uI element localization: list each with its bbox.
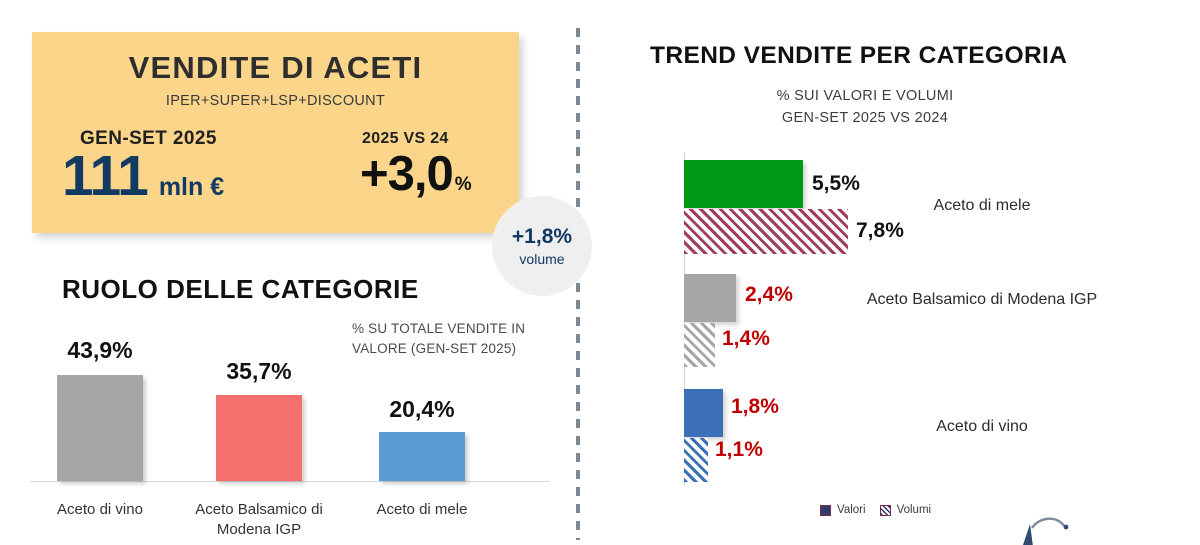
hbar-label-mele-valori: 5,5% bbox=[812, 172, 860, 196]
legend-label-valori: Valori bbox=[837, 504, 866, 516]
hbar-label-mele-volumi: 7,8% bbox=[856, 219, 904, 243]
infographic-root: VENDITE DI ACETI IPER+SUPER+LSP+DISCOUNT… bbox=[0, 0, 1200, 545]
hbar-mele-volumi bbox=[684, 209, 848, 254]
bar-aceto-di-vino bbox=[57, 375, 143, 481]
hbar-category-balsamico: Aceto Balsamico di Modena IGP bbox=[857, 288, 1107, 311]
corner-logo-mark-icon bbox=[1014, 514, 1094, 545]
hbar-label-vino-volumi: 1,1% bbox=[715, 438, 763, 462]
bar-category-aceto-balsamico: Aceto Balsamico di Modena IGP bbox=[179, 500, 339, 541]
hbar-vino-valori bbox=[684, 389, 723, 437]
hbar-category-vino: Aceto di vino bbox=[857, 415, 1107, 438]
hbar-vino-volumi bbox=[684, 438, 708, 482]
right-chart-subtitle-line2: GEN-SET 2025 VS 2024 bbox=[650, 108, 1080, 130]
legend-swatch-valori-icon bbox=[820, 505, 831, 516]
bar-value-aceto-balsamico: 35,7% bbox=[196, 358, 322, 385]
right-chart-title: TREND VENDITE PER CATEGORIA bbox=[650, 42, 1067, 70]
hbar-label-balsamico-volumi: 1,4% bbox=[722, 327, 770, 351]
volume-badge: +1,8% volume bbox=[492, 196, 592, 296]
hbar-category-mele: Aceto di mele bbox=[857, 194, 1107, 217]
bar-value-aceto-di-mele: 20,4% bbox=[359, 396, 485, 423]
legend-item-volumi: Volumi bbox=[880, 504, 932, 516]
bar-aceto-di-mele bbox=[379, 432, 465, 481]
right-chart-subtitle: % SUI VALORI E VOLUMI GEN-SET 2025 VS 20… bbox=[650, 86, 1080, 130]
left-chart-column bbox=[57, 0, 143, 481]
bar-aceto-balsamico bbox=[216, 395, 302, 481]
kpi-total-unit: mln € bbox=[159, 173, 224, 202]
panel-divider bbox=[576, 28, 580, 540]
hbar-category-balsamico-text: Aceto Balsamico di Modena IGP bbox=[867, 291, 1097, 308]
hbar-label-vino-valori: 1,8% bbox=[731, 395, 779, 419]
hbar-balsamico-volumi bbox=[684, 323, 715, 367]
hbar-balsamico-valori bbox=[684, 274, 736, 322]
volume-badge-caption: volume bbox=[519, 251, 564, 267]
legend-swatch-volumi-icon bbox=[880, 505, 891, 516]
legend-item-valori: Valori bbox=[820, 504, 866, 516]
bar-category-aceto-di-mele: Aceto di mele bbox=[342, 500, 502, 520]
right-chart-subtitle-line1: % SUI VALORI E VOLUMI bbox=[650, 86, 1080, 108]
hbar-label-balsamico-valori: 2,4% bbox=[745, 283, 793, 307]
left-chart-column bbox=[216, 0, 302, 481]
bar-value-aceto-di-vino: 43,9% bbox=[37, 337, 163, 364]
volume-badge-value: +1,8% bbox=[512, 225, 572, 248]
legend-label-volumi: Volumi bbox=[897, 504, 932, 516]
bar-category-aceto-di-vino: Aceto di vino bbox=[20, 500, 180, 520]
left-chart-baseline bbox=[30, 481, 550, 482]
hbar-mele-valori bbox=[684, 160, 803, 208]
right-chart-legend: Valori Volumi bbox=[820, 504, 931, 516]
